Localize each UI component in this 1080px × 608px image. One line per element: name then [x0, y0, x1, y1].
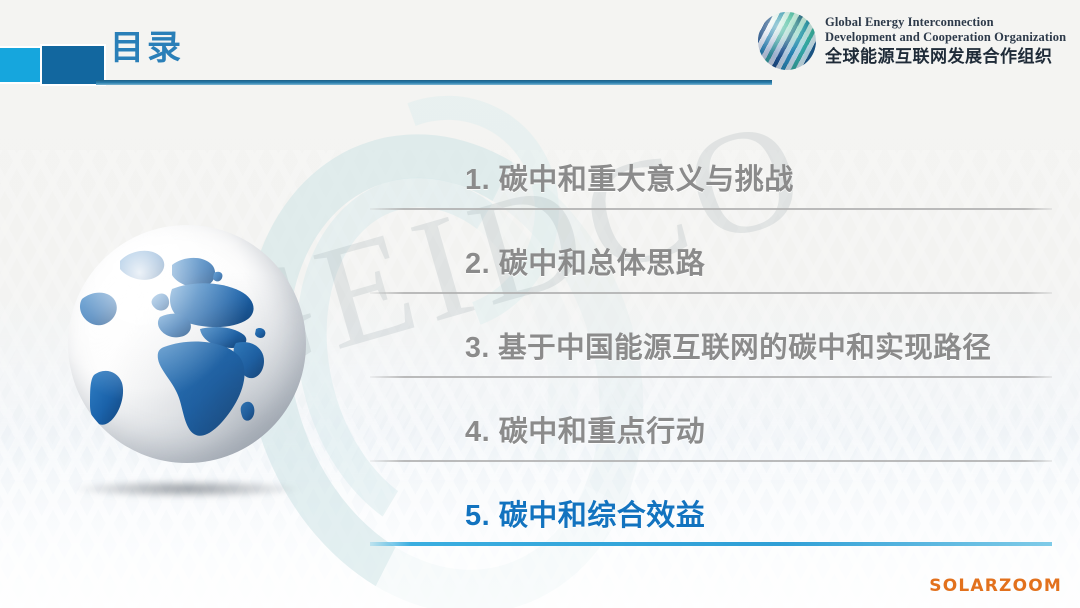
toc-item-4-label: 4. 碳中和重点行动 [465, 408, 705, 450]
header-cyan-square [0, 46, 42, 84]
logo-english-line-2: Development and Cooperation Organization [825, 30, 1066, 45]
toc-item-5[interactable]: 5. 碳中和综合效益 [370, 462, 1052, 546]
toc-item-5-label: 5. 碳中和综合效益 [465, 492, 705, 534]
geidco-globe-icon [758, 12, 816, 70]
toc-item-1[interactable]: 1. 碳中和重大意义与挑战 [370, 126, 1052, 210]
toc-item-4[interactable]: 4. 碳中和重点行动 [370, 378, 1052, 462]
world-globe-illustration [68, 225, 306, 463]
solarzoom-watermark: SOLARZOOM [929, 576, 1062, 596]
toc-item-5-divider [370, 542, 1052, 546]
globe-shadow [74, 480, 300, 498]
logo-chinese-name: 全球能源互联网发展合作组织 [825, 47, 1066, 67]
logo-english-line-1: Global Energy Interconnection [825, 15, 1066, 30]
toc-item-3[interactable]: 3. 基于中国能源互联网的碳中和实现路径 [370, 294, 1052, 378]
page-title: 目录 [110, 31, 184, 65]
toc-item-2-label: 2. 碳中和总体思路 [465, 240, 705, 282]
toc-item-3-label: 3. 基于中国能源互联网的碳中和实现路径 [465, 325, 991, 366]
table-of-contents: 1. 碳中和重大意义与挑战 2. 碳中和总体思路 3. 基于中国能源互联网的碳中… [370, 126, 1052, 546]
logo-text-block: Global Energy Interconnection Developmen… [825, 15, 1066, 67]
world-globe-icon [68, 225, 306, 463]
geidco-logo: Global Energy Interconnection Developmen… [758, 12, 1066, 70]
toc-item-1-label: 1. 碳中和重大意义与挑战 [465, 156, 794, 198]
slide-canvas: GEIDCO 目录 Global Energy Interconnection … [0, 0, 1080, 608]
header-divider [96, 80, 772, 85]
toc-item-2[interactable]: 2. 碳中和总体思路 [370, 210, 1052, 294]
